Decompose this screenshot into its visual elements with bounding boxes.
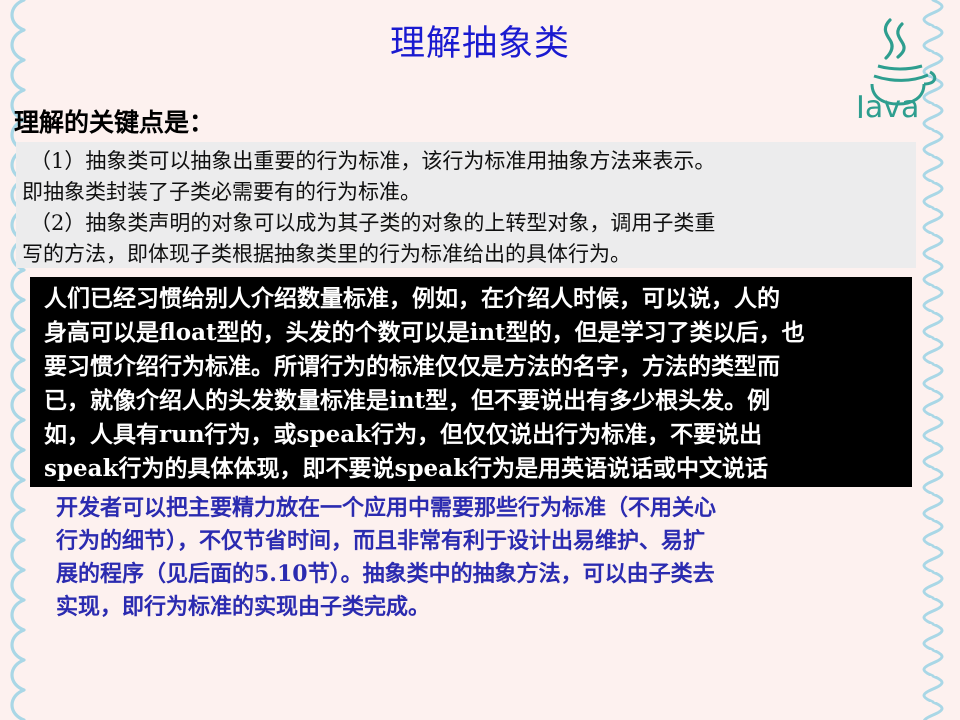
gray-box-line: 写的方法，即体现子类根据抽象类里的行为标准给出的具体行为。	[16, 239, 916, 270]
black-box-line: 已，就像介绍人的头发数量标准是int型，但不要说出有多少根头发。例	[30, 384, 912, 418]
java-logo: Java	[852, 14, 944, 118]
black-box-line: 要习惯介绍行为标准。所谓行为的标准仅仅是方法的名字，方法的类型而	[30, 350, 912, 384]
java-wordmark: Java	[854, 90, 919, 118]
slide-canvas: 理解抽象类 Java 理解的关键点是： （1）抽象类可以抽象出重要的行为标准，该…	[0, 0, 960, 720]
black-emphasis-box: 人们已经习惯给别人介绍数量标准，例如，在介绍人时候，可以说，人的 身高可以是fl…	[30, 277, 912, 487]
gray-note-box: （1）抽象类可以抽象出重要的行为标准，该行为标准用抽象方法来表示。 即抽象类封装…	[16, 142, 916, 268]
blue-text-line: 行为的细节），不仅节省时间，而且非常有利于设计出易维护、易扩	[56, 525, 916, 558]
black-box-line: 人们已经习惯给别人介绍数量标准，例如，在介绍人时候，可以说，人的	[30, 277, 912, 316]
black-box-line: 身高可以是float型的，头发的个数可以是int型的，但是学习了类以后，也	[30, 316, 912, 350]
key-points-heading: 理解的关键点是：	[14, 108, 214, 138]
blue-text-line: 展的程序（见后面的5.10节）。抽象类中的抽象方法，可以由子类去	[56, 558, 916, 591]
blue-text-line: 实现，即行为标准的实现由子类完成。	[56, 591, 916, 624]
black-box-line: 如，人具有run行为，或speak行为，但仅仅说出行为标准，不要说出	[30, 418, 912, 452]
gray-box-line: （2）抽象类声明的对象可以成为其子类的对象的上转型对象，调用子类重	[16, 208, 916, 239]
black-box-line: speak行为的具体体现，即不要说speak行为是用英语说话或中文说话	[30, 452, 912, 486]
gray-box-line: （1）抽象类可以抽象出重要的行为标准，该行为标准用抽象方法来表示。	[16, 142, 916, 177]
gray-box-line: 即抽象类封装了子类必需要有的行为标准。	[16, 177, 916, 208]
java-coffee-cup-icon: Java	[852, 14, 944, 118]
page-title: 理解抽象类	[0, 22, 960, 67]
blue-summary-paragraph: 开发者可以把主要精力放在一个应用中需要那些行为标准（不用关心 行为的细节），不仅…	[56, 492, 916, 624]
blue-text-line: 开发者可以把主要精力放在一个应用中需要那些行为标准（不用关心	[56, 492, 916, 525]
